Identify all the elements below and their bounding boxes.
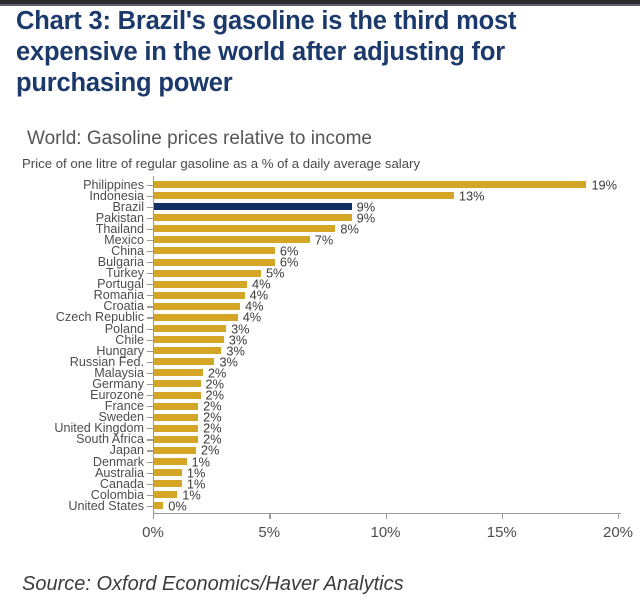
source-note: Source: Oxford Economics/Haver Analytics (22, 573, 404, 596)
bar[interactable] (154, 303, 240, 310)
bar-value-label: 19% (591, 177, 617, 192)
y-axis-tick (147, 462, 153, 463)
bar[interactable] (154, 192, 454, 199)
y-axis-tick (147, 450, 153, 451)
bar[interactable] (154, 414, 198, 421)
bar[interactable] (154, 236, 310, 243)
y-axis-tick (147, 262, 153, 263)
bar[interactable] (154, 369, 203, 376)
y-axis-tick (147, 506, 153, 507)
x-axis-tick (386, 513, 387, 519)
y-axis-tick (147, 351, 153, 352)
y-axis-tick (147, 284, 153, 285)
x-axis-tick (618, 513, 619, 519)
bar[interactable] (154, 314, 238, 321)
bar-value-label: 7% (315, 232, 334, 247)
y-axis-tick (147, 218, 153, 219)
y-axis-tick (147, 317, 153, 318)
bar[interactable] (154, 491, 177, 498)
y-axis-tick (147, 329, 153, 330)
bar[interactable] (154, 336, 224, 343)
y-axis-tick (147, 428, 153, 429)
bar-value-label: 13% (459, 188, 485, 203)
bar[interactable] (154, 181, 586, 188)
bar[interactable] (154, 480, 182, 487)
y-axis-tick (147, 196, 153, 197)
y-axis-tick (147, 473, 153, 474)
bar[interactable] (154, 270, 261, 277)
bar-highlighted[interactable] (154, 203, 352, 210)
bar[interactable] (154, 380, 201, 387)
y-axis-tick (147, 295, 153, 296)
bar[interactable] (154, 292, 245, 299)
bar-chart-plot-area: Philippines19%Indonesia13%Brazil9%Pakist… (0, 176, 640, 516)
bar[interactable] (154, 502, 163, 509)
bar[interactable] (154, 259, 275, 266)
bar[interactable] (154, 458, 187, 465)
x-axis-tick (269, 513, 270, 519)
bar[interactable] (154, 347, 221, 354)
x-axis-tick (153, 513, 154, 519)
bar[interactable] (154, 325, 226, 332)
bar[interactable] (154, 358, 214, 365)
bar[interactable] (154, 403, 198, 410)
bar[interactable] (154, 214, 352, 221)
y-axis-tick (147, 185, 153, 186)
x-axis-tick-label: 20% (603, 524, 633, 541)
bar[interactable] (154, 469, 182, 476)
y-axis-tick (147, 306, 153, 307)
chart-title: World: Gasoline prices relative to incom… (27, 128, 372, 150)
bar[interactable] (154, 425, 198, 432)
chart-subtitle: Price of one litre of regular gasoline a… (22, 156, 420, 171)
bar[interactable] (154, 436, 198, 443)
y-axis-tick (147, 229, 153, 230)
bar-value-label: 8% (340, 221, 359, 236)
bar-value-label: 9% (357, 210, 376, 225)
x-axis-tick-label: 5% (258, 524, 280, 541)
y-axis-tick (147, 439, 153, 440)
y-axis-tick (147, 384, 153, 385)
bar[interactable] (154, 281, 247, 288)
page-title: Chart 3: Brazil's gasoline is the third … (16, 6, 616, 99)
bar[interactable] (154, 225, 335, 232)
y-axis-tick (147, 495, 153, 496)
y-axis-tick (147, 395, 153, 396)
y-axis-tick (147, 207, 153, 208)
y-axis-tick (147, 273, 153, 274)
bar[interactable] (154, 447, 196, 454)
y-axis-tick (147, 417, 153, 418)
y-axis-tick (147, 340, 153, 341)
x-axis-tick-label: 15% (487, 524, 517, 541)
bar-value-label: 0% (168, 498, 187, 513)
y-axis-tick (147, 373, 153, 374)
x-axis-tick-label: 10% (370, 524, 400, 541)
x-axis-tick-label: 0% (142, 524, 164, 541)
bar[interactable] (154, 392, 201, 399)
y-axis-tick (147, 406, 153, 407)
x-axis-tick (502, 513, 503, 519)
y-axis-tick (147, 362, 153, 363)
y-axis-tick (147, 240, 153, 241)
x-axis-line (153, 513, 621, 514)
bar[interactable] (154, 247, 275, 254)
y-axis-tick (147, 251, 153, 252)
category-label: United States (0, 499, 144, 513)
y-axis-tick (147, 484, 153, 485)
